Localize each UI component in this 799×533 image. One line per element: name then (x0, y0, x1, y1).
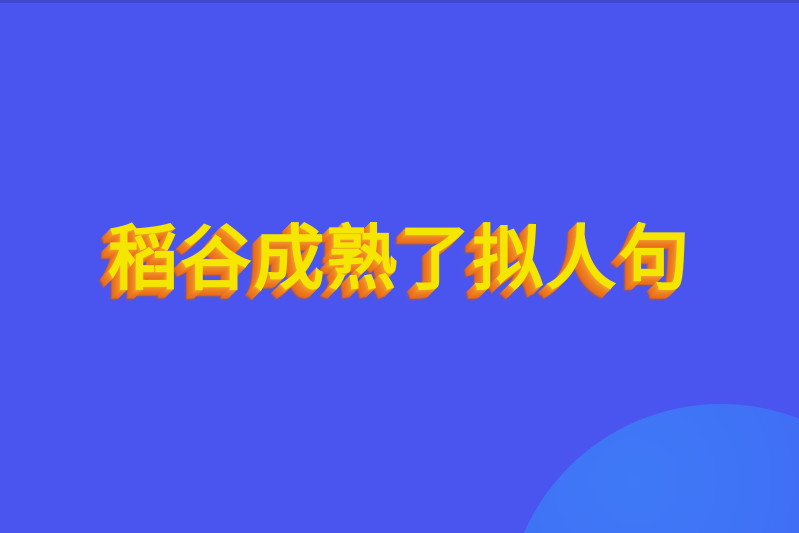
page-title: 稻谷成熟了拟人句 (107, 223, 691, 298)
top-edge-band (0, 0, 799, 3)
bottom-right-circle-decoration (506, 404, 799, 533)
poster-canvas: 稻谷成熟了拟人句 (0, 0, 799, 533)
